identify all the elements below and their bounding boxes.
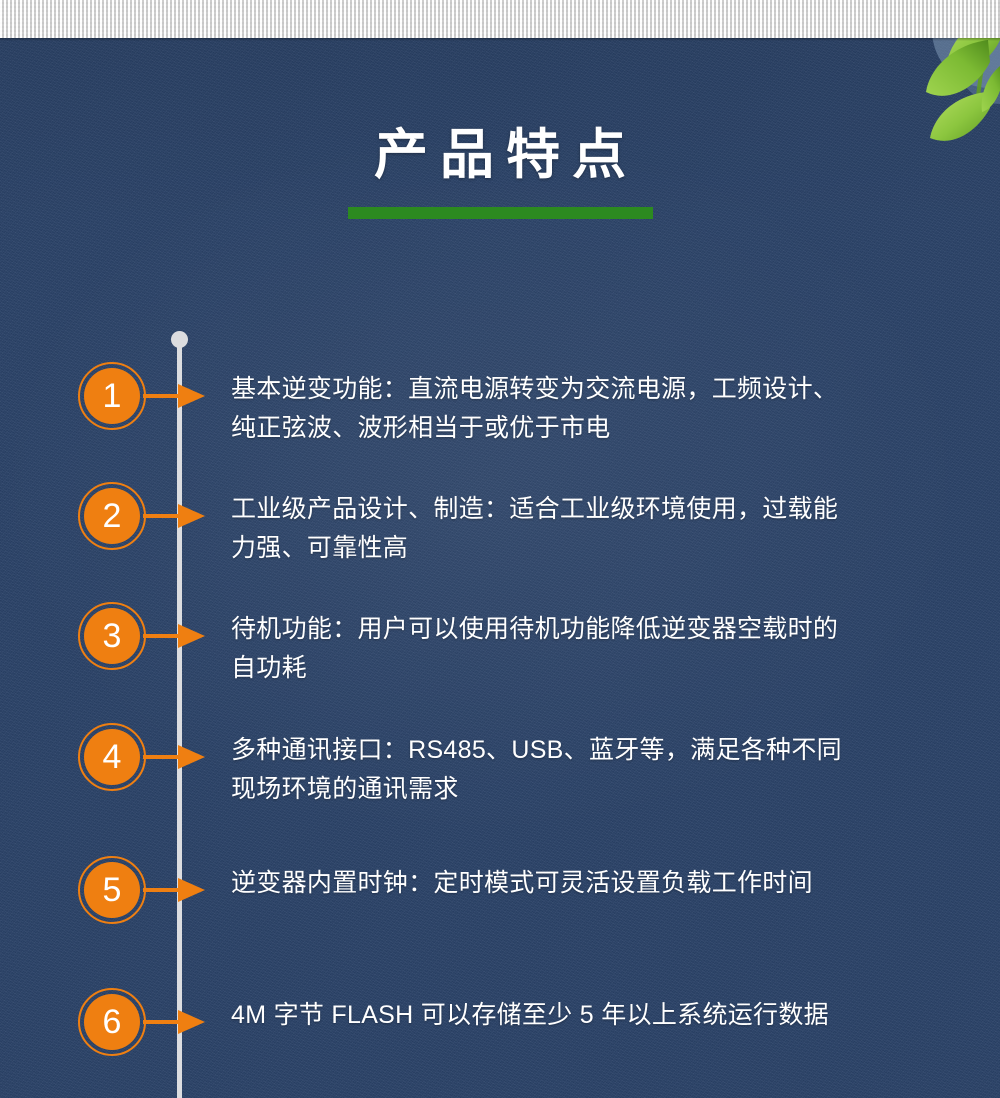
feature-text: 4M 字节 FLASH 可以存储至少 5 年以上系统运行数据	[231, 996, 856, 1035]
page-background	[0, 38, 1000, 1098]
feature-badge[interactable]: 5	[78, 856, 146, 924]
feature-text: 基本逆变功能：直流电源转变为交流电源，工频设计、纯正弦波、波形相当于或优于市电	[231, 370, 856, 448]
page-header: 产品特点	[0, 120, 1000, 190]
badge-number: 4	[84, 729, 140, 785]
arrow-right-icon	[178, 624, 205, 648]
feature-badge[interactable]: 6	[78, 988, 146, 1056]
feature-badge[interactable]: 1	[78, 362, 146, 430]
arrow-right-icon	[178, 504, 205, 528]
badge-number: 1	[84, 368, 140, 424]
feature-badge[interactable]: 2	[78, 482, 146, 550]
background-vignette	[0, 38, 1000, 1098]
arrow-right-icon	[178, 745, 205, 769]
arrow-right-icon	[178, 384, 205, 408]
product-features-page: 产品特点 1 基本逆变功能：直流电源转变为交流电源，工频设计、纯正弦波、波形相当…	[0, 0, 1000, 1098]
feature-text: 工业级产品设计、制造：适合工业级环境使用，过载能力强、可靠性高	[231, 490, 856, 568]
title-underline	[348, 207, 653, 219]
feature-badge[interactable]: 3	[78, 602, 146, 670]
badge-number: 3	[84, 608, 140, 664]
badge-number: 6	[84, 994, 140, 1050]
page-title: 产品特点	[0, 120, 1000, 190]
background-texture	[0, 38, 1000, 1098]
arrow-right-icon	[178, 878, 205, 902]
badge-number: 5	[84, 862, 140, 918]
arrow-right-icon	[178, 1010, 205, 1034]
badge-number: 2	[84, 488, 140, 544]
timeline-axis	[177, 340, 182, 1098]
top-texture-strip	[0, 0, 1000, 38]
feature-text: 待机功能：用户可以使用待机功能降低逆变器空载时的自功耗	[231, 610, 856, 688]
feature-text: 逆变器内置时钟：定时模式可灵活设置负载工作时间	[231, 864, 856, 903]
timeline-start-dot	[171, 331, 188, 348]
feature-badge[interactable]: 4	[78, 723, 146, 791]
feature-text: 多种通讯接口：RS485、USB、蓝牙等，满足各种不同现场环境的通讯需求	[231, 731, 856, 809]
top-strip-shadow	[0, 38, 1000, 41]
